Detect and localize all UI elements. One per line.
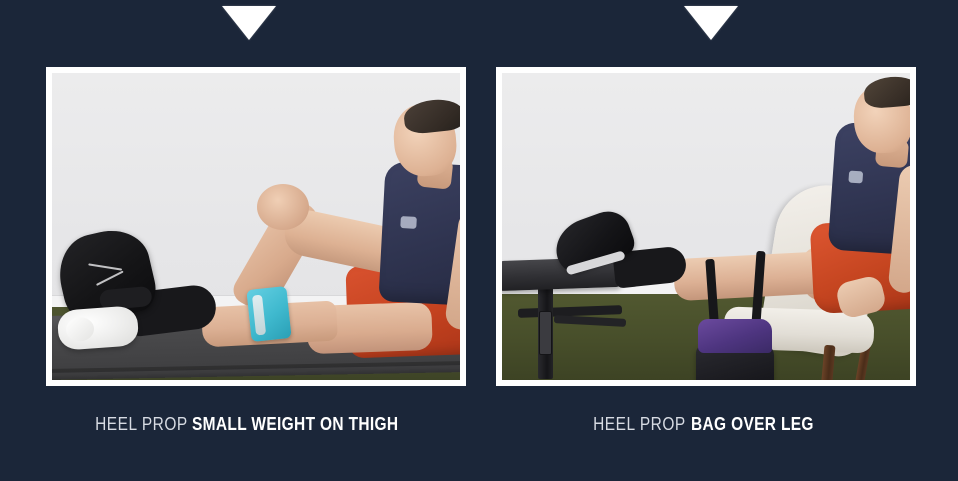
- shirt-logo-icon: [848, 171, 863, 184]
- ankle-weight: [246, 286, 291, 342]
- caption-left-main: SMALL WEIGHT ON THIGH: [192, 414, 398, 435]
- shirt-logo-icon: [400, 216, 417, 229]
- photo-panel-right[interactable]: [496, 67, 916, 386]
- photo-left: [52, 73, 460, 380]
- caption-right: HEEL PROP BAG OVER LEG: [496, 404, 916, 444]
- shoe-lace: [96, 271, 124, 286]
- bench-post: [538, 287, 553, 379]
- page-root: { "background_color": "#1b2639", "marker…: [0, 0, 958, 481]
- panel-row: [0, 67, 958, 386]
- caption-left: HEEL PROP SMALL WEIGHT ON THIGH: [46, 404, 466, 444]
- rolled-towel: [57, 305, 140, 350]
- caption-left-prefix: HEEL PROP: [95, 414, 188, 435]
- triangle-down-icon-right: [684, 6, 738, 40]
- shoe-lace: [88, 263, 122, 270]
- backpack-top: [698, 319, 772, 353]
- triangle-down-icon-left: [222, 6, 276, 40]
- caption-right-main: BAG OVER LEG: [691, 414, 814, 435]
- marker-row: [0, 0, 958, 50]
- knee: [257, 184, 309, 230]
- photo-right: [502, 73, 910, 380]
- photo-panel-left[interactable]: [46, 67, 466, 386]
- caption-row: HEEL PROP SMALL WEIGHT ON THIGH HEEL PRO…: [0, 404, 958, 454]
- mat-edge: [52, 361, 460, 373]
- caption-right-prefix: HEEL PROP: [593, 414, 686, 435]
